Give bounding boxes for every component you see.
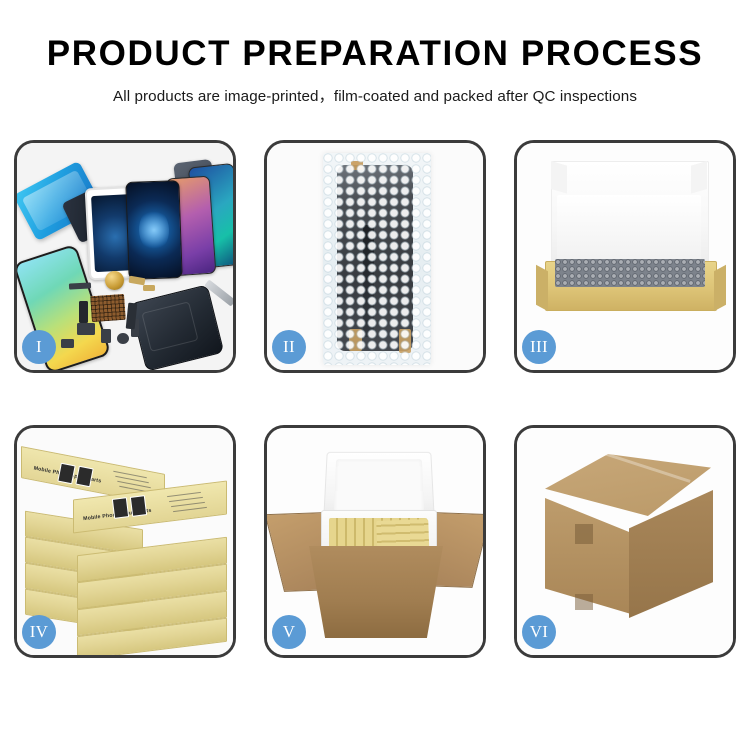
box-label-swatch [130, 495, 147, 517]
gold-component [105, 271, 124, 290]
step-badge-1: I [22, 330, 56, 364]
carton-tape-patch [575, 594, 593, 610]
lid-flap-right [691, 161, 707, 194]
phone-back-cover [130, 284, 225, 370]
small-part [77, 323, 95, 335]
small-part [69, 282, 91, 289]
page-subtitle: All products are image-printed，film-coat… [0, 84, 750, 106]
process-step-panel-6[interactable]: VI [514, 425, 736, 658]
small-part [79, 301, 88, 323]
small-part [143, 285, 155, 291]
small-part [117, 333, 129, 344]
process-step-panel-1[interactable]: I [14, 140, 236, 373]
bubble-wrap-bag [323, 153, 431, 365]
bubble-texture [323, 153, 431, 365]
step-badge-4: IV [22, 615, 56, 649]
process-step-panel-5[interactable]: V [264, 425, 486, 658]
carton-body [309, 546, 443, 638]
small-part [129, 276, 146, 286]
step-badge-3: III [522, 330, 556, 364]
step-badge-2: II [272, 330, 306, 364]
process-step-panel-2[interactable]: II [264, 140, 486, 373]
process-step-grid: I II [14, 140, 736, 658]
white-foam-sheet [557, 195, 701, 263]
lid-flap-left [551, 161, 567, 194]
process-step-panel-3[interactable]: III [514, 140, 736, 373]
page-title: PRODUCT PREPARATION PROCESS [0, 36, 750, 73]
small-part [61, 339, 74, 348]
blue-swirl-phone [125, 180, 182, 280]
step-badge-5: V [272, 615, 306, 649]
bubble-wrapped-contents [555, 259, 705, 287]
box-label-swatch [112, 497, 129, 519]
page-header: PRODUCT PREPARATION PROCESS All products… [0, 0, 750, 106]
carton-tape-patch [575, 524, 593, 544]
step-badge-6: VI [522, 615, 556, 649]
process-step-panel-4[interactable]: Mobile Phone Spare Parts Mobile Phone Sp… [14, 425, 236, 658]
small-part [101, 329, 111, 343]
chip-grid-component [90, 294, 126, 322]
